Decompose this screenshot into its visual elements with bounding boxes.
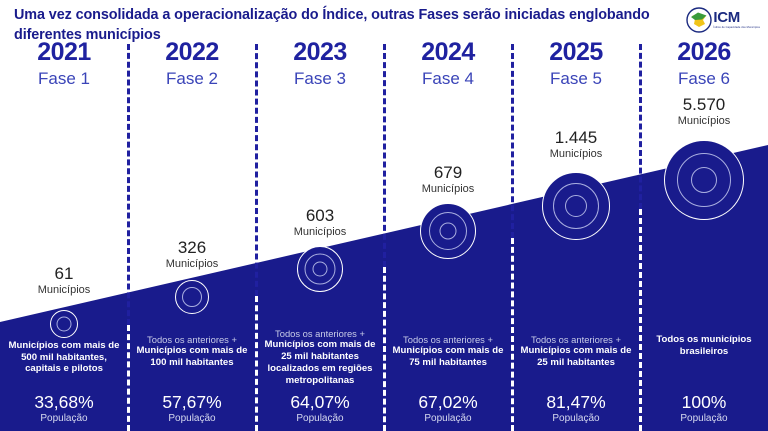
divider-segment-light: [511, 238, 514, 431]
municipality-count-label: Municípios: [0, 284, 128, 298]
municipality-count-label: Municípios: [128, 258, 256, 272]
divider-segment-dark: [639, 44, 642, 209]
divider-segment-dark: [511, 44, 514, 238]
description-main: Municípios com mais de 25 mil habitantes…: [260, 339, 380, 386]
phase-column-2026[interactable]: 2026 Fase 6 5.570 Municípios Todos os mu…: [640, 0, 768, 431]
phase-description: Todos os anteriores + Municípios com mai…: [516, 334, 636, 369]
circle-ring-inner: [565, 195, 587, 217]
phase-column-2025[interactable]: 2025 Fase 5 1.445 Municípios Todos os an…: [512, 0, 640, 431]
column-divider: [639, 44, 642, 431]
population-percent-label: População: [0, 413, 128, 425]
phase-description: Todos os anteriores + Municípios com mai…: [132, 334, 252, 369]
population-percent-block: 81,47% População: [512, 392, 640, 425]
column-divider: [511, 44, 514, 431]
population-percent-label: População: [128, 413, 256, 425]
circle-ring-inner: [691, 167, 717, 193]
description-main: Municípios com mais de 100 mil habitante…: [132, 345, 252, 368]
phase-description: Todos os anteriores + Municípios com mai…: [388, 334, 508, 369]
municipality-count-block: 5.570 Municípios: [640, 95, 768, 128]
column-divider: [383, 44, 386, 431]
population-percent: 67,02%: [384, 392, 512, 413]
logo-text-wrap: ICM Índice de Capacidade dos Municípios: [713, 10, 760, 29]
municipality-count: 1.445: [512, 128, 640, 148]
phase-circle-marker: [542, 172, 610, 240]
phase-column-2022[interactable]: 2022 Fase 2 326 Municípios Todos os ante…: [128, 0, 256, 431]
logo-subtitle: Índice de Capacidade dos Municípios: [713, 26, 760, 29]
population-percent: 33,68%: [0, 392, 128, 413]
population-percent: 81,47%: [512, 392, 640, 413]
phase-column-2024[interactable]: 2024 Fase 4 679 Municípios Todos os ante…: [384, 0, 512, 431]
phase-column-2023[interactable]: 2023 Fase 3 603 Municípios Todos os ante…: [256, 0, 384, 431]
phase-description: Todos os municípios brasileiros: [644, 334, 764, 357]
phase-description: Todos os anteriores + Municípios com mai…: [260, 328, 380, 386]
phase-label: Fase 4: [384, 70, 512, 87]
page-title: Uma vez consolidada a operacionalização …: [14, 6, 686, 46]
municipality-count-block: 326 Municípios: [128, 238, 256, 271]
phase-circle-marker: [420, 203, 476, 259]
circle-ring-inner: [57, 317, 72, 332]
icm-logo: ICM Índice de Capacidade dos Municípios: [686, 4, 760, 36]
phase-circle-marker: [175, 280, 209, 314]
municipality-count-label: Municípios: [512, 148, 640, 162]
phase-circle-marker: [297, 246, 343, 292]
population-percent-block: 100% População: [640, 392, 768, 425]
municipality-count: 61: [0, 264, 128, 284]
divider-segment-light: [383, 267, 386, 431]
municipality-count-label: Municípios: [384, 183, 512, 197]
phase-circle-marker: [664, 140, 744, 220]
municipality-count: 5.570: [640, 95, 768, 115]
municipality-count: 326: [128, 238, 256, 258]
municipality-count: 603: [256, 206, 384, 226]
divider-segment-light: [639, 209, 642, 431]
municipality-count-block: 603 Municípios: [256, 206, 384, 239]
municipality-count-label: Municípios: [640, 115, 768, 129]
phase-label: Fase 1: [0, 70, 128, 87]
municipality-count-label: Municípios: [256, 226, 384, 240]
description-main: Municípios com mais de 500 mil habitante…: [4, 340, 124, 375]
header: Uma vez consolidada a operacionalização …: [14, 6, 686, 46]
divider-segment-light: [127, 325, 130, 431]
population-percent-block: 67,02% População: [384, 392, 512, 425]
divider-segment-dark: [383, 44, 386, 267]
circle-ring-inner: [182, 287, 202, 307]
description-main: Municípios com mais de 25 mil habitantes: [516, 345, 636, 368]
municipality-count-block: 61 Municípios: [0, 264, 128, 297]
logo-wordmark: ICM: [713, 10, 740, 25]
infographic-root: Uma vez consolidada a operacionalização …: [0, 0, 768, 431]
phase-columns: 2021 Fase 1 61 Municípios Municípios com…: [0, 0, 768, 431]
population-percent: 57,67%: [128, 392, 256, 413]
divider-segment-light: [255, 296, 258, 431]
circle-ring-inner: [440, 223, 457, 240]
divider-segment-dark: [255, 44, 258, 296]
phase-label: Fase 2: [128, 70, 256, 87]
circle-ring-inner: [313, 262, 328, 277]
population-percent-block: 64,07% População: [256, 392, 384, 425]
description-prefix: Todos os anteriores +: [516, 334, 636, 345]
municipality-count-block: 679 Municípios: [384, 163, 512, 196]
population-percent-block: 57,67% População: [128, 392, 256, 425]
divider-segment-dark: [127, 44, 130, 325]
phase-label: Fase 3: [256, 70, 384, 87]
phase-label: Fase 6: [640, 70, 768, 87]
phase-circle-marker: [50, 310, 78, 338]
population-percent-block: 33,68% População: [0, 392, 128, 425]
description-main: Todos os municípios brasileiros: [644, 334, 764, 357]
brazil-map-icon: [686, 7, 712, 33]
population-percent-label: População: [384, 413, 512, 425]
population-percent-label: População: [640, 413, 768, 425]
column-divider: [255, 44, 258, 431]
phase-description: Municípios com mais de 500 mil habitante…: [4, 340, 124, 375]
phase-column-2021[interactable]: 2021 Fase 1 61 Municípios Municípios com…: [0, 0, 128, 431]
phase-label: Fase 5: [512, 70, 640, 87]
municipality-count: 679: [384, 163, 512, 183]
population-percent: 100%: [640, 392, 768, 413]
description-main: Municípios com mais de 75 mil habitantes: [388, 345, 508, 368]
description-prefix: Todos os anteriores +: [260, 328, 380, 339]
municipality-count-block: 1.445 Municípios: [512, 128, 640, 161]
population-percent-label: População: [256, 413, 384, 425]
population-percent: 64,07%: [256, 392, 384, 413]
description-prefix: Todos os anteriores +: [388, 334, 508, 345]
population-percent-label: População: [512, 413, 640, 425]
description-prefix: Todos os anteriores +: [132, 334, 252, 345]
column-divider: [127, 44, 130, 431]
